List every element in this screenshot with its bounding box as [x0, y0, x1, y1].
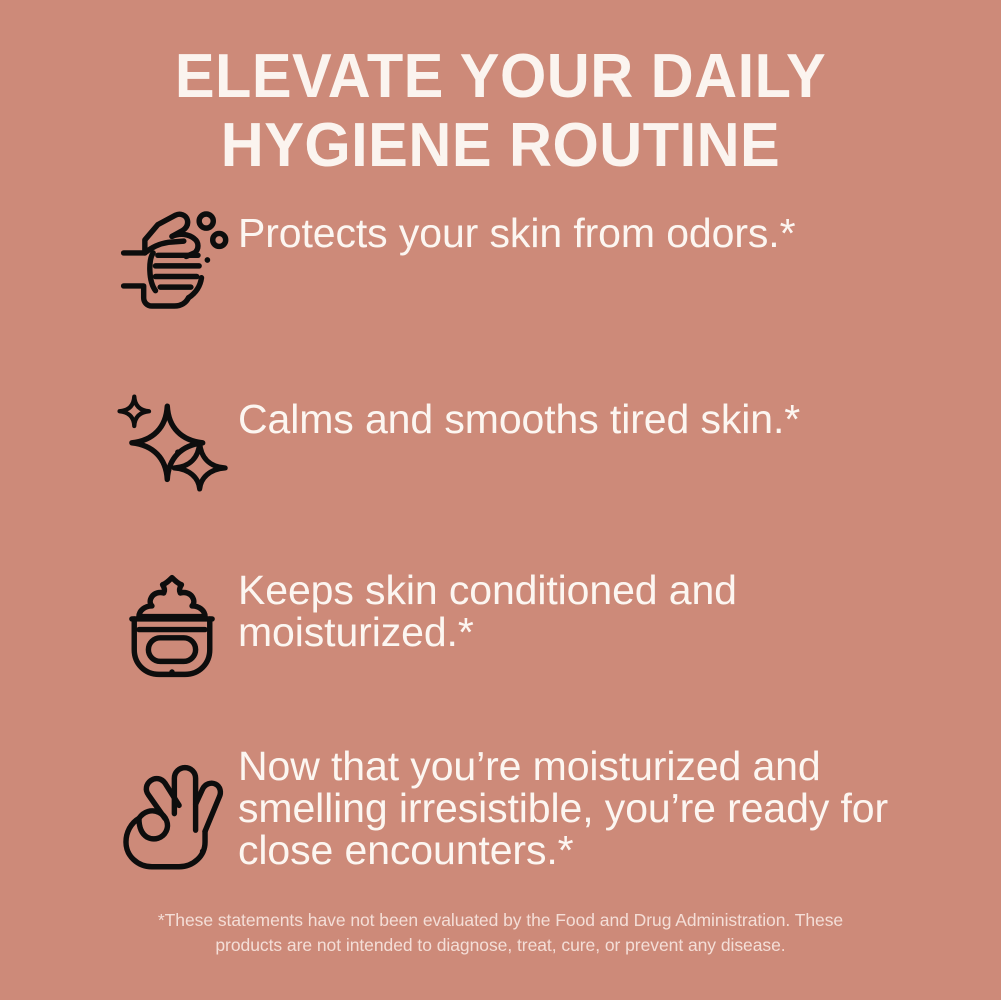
benefits-list: Protects your skin from odors.* Calms an… — [0, 186, 1001, 930]
benefit-item-calms-skin: Calms and smooths tired skin.* — [0, 372, 1001, 558]
sparkles-icon — [106, 378, 238, 510]
benefit-item-protects-skin: Protects your skin from odors.* — [0, 186, 1001, 372]
ok-hand-icon — [106, 750, 238, 882]
legal-disclaimer: *These statements have not been evaluate… — [0, 908, 1001, 959]
page-title: ELEVATE YOUR DAILY HYGIENE ROUTINE — [20, 0, 981, 181]
benefit-text: Protects your skin from odors.* — [238, 186, 988, 254]
benefit-text: Calms and smooths tired skin.* — [238, 372, 988, 440]
page-title-line-1: ELEVATE YOUR DAILY — [78, 42, 924, 111]
cream-jar-icon — [106, 560, 238, 692]
hand-washing-icon — [106, 194, 238, 326]
benefit-item-conditioned-skin: Keeps skin conditioned and moisturized.* — [0, 558, 1001, 744]
promo-poster: ELEVATE YOUR DAILY HYGIENE ROUTINE — [0, 0, 1001, 1000]
benefit-text: Now that you’re moisturized and smelling… — [238, 744, 988, 872]
benefit-item-close-encounters: Now that you’re moisturized and smelling… — [0, 744, 1001, 930]
benefit-text: Keeps skin conditioned and moisturized.* — [238, 558, 988, 653]
page-title-line-2: HYGIENE ROUTINE — [78, 111, 924, 180]
